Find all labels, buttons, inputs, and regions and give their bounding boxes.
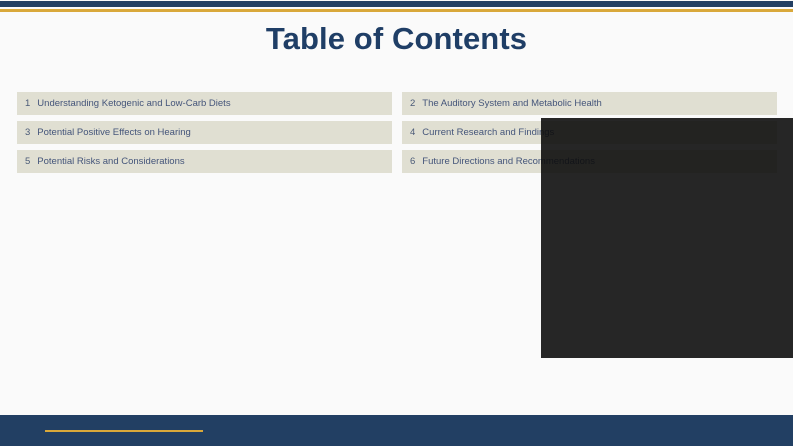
toc-item-3[interactable]: 3 Potential Positive Effects on Hearing bbox=[17, 121, 392, 144]
toc-item-label: Current Research and Findings bbox=[422, 127, 554, 138]
toc-item-label: Potential Positive Effects on Hearing bbox=[37, 127, 191, 138]
toc-item-4[interactable]: 4 Current Research and Findings bbox=[402, 121, 777, 144]
toc-item-2[interactable]: 2 The Auditory System and Metabolic Heal… bbox=[402, 92, 777, 115]
toc-item-number: 6 bbox=[410, 156, 415, 167]
toc-item-1[interactable]: 1 Understanding Ketogenic and Low-Carb D… bbox=[17, 92, 392, 115]
toc-item-number: 4 bbox=[410, 127, 415, 138]
page-title: Table of Contents bbox=[0, 20, 793, 58]
footer-bar bbox=[0, 415, 793, 446]
toc-item-label: The Auditory System and Metabolic Health bbox=[422, 98, 602, 109]
table-of-contents-list: 1 Understanding Ketogenic and Low-Carb D… bbox=[17, 92, 777, 173]
toc-item-label: Future Directions and Recommendations bbox=[422, 156, 595, 167]
footer-gold-rule bbox=[45, 430, 203, 432]
toc-item-label: Understanding Ketogenic and Low-Carb Die… bbox=[37, 98, 230, 109]
toc-item-number: 3 bbox=[25, 127, 30, 138]
toc-item-number: 2 bbox=[410, 98, 415, 109]
toc-item-label: Potential Risks and Considerations bbox=[37, 156, 184, 167]
toc-item-number: 1 bbox=[25, 98, 30, 109]
slide-canvas: Table of Contents 1 Understanding Ketoge… bbox=[0, 0, 793, 446]
toc-item-5[interactable]: 5 Potential Risks and Considerations bbox=[17, 150, 392, 173]
top-gold-rule bbox=[0, 9, 793, 12]
toc-item-number: 5 bbox=[25, 156, 30, 167]
toc-item-6[interactable]: 6 Future Directions and Recommendations bbox=[402, 150, 777, 173]
